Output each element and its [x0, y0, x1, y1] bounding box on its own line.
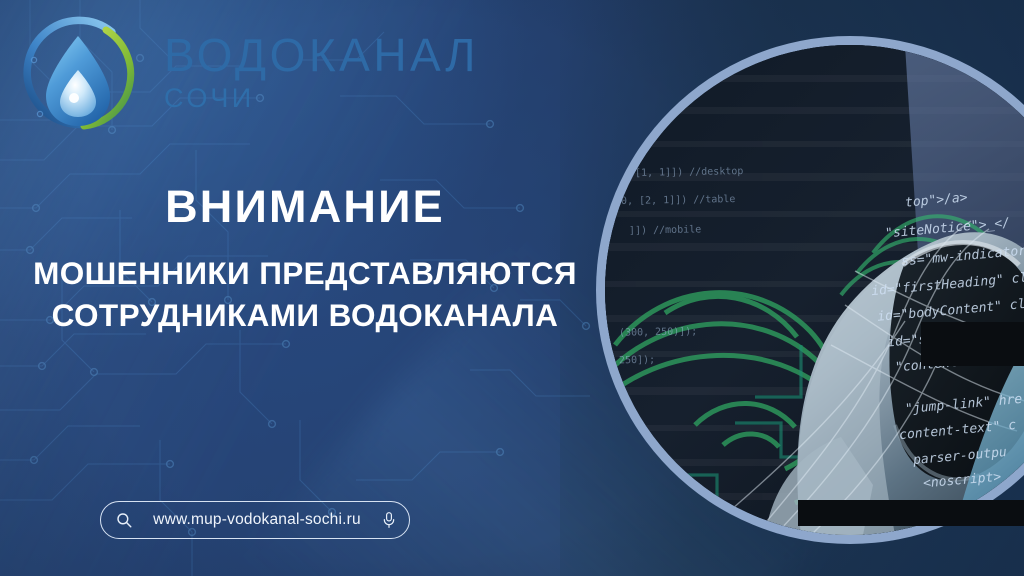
- brand-title: ВОДОКАНАЛ: [164, 30, 479, 80]
- code-line: <noscript>: [922, 470, 1001, 492]
- code-line: [1, 1]]) //desktop: [635, 166, 744, 179]
- code-line: top">/a>: [904, 190, 968, 210]
- code-line: (300, 250)]);: [619, 326, 697, 338]
- website-url: www.mup-vodokanal-sochi.ru: [133, 511, 381, 529]
- poster-canvas: [1, 1]]) //desktop 0, [2, 1]]) //table ]…: [0, 0, 1024, 576]
- redaction-box-upper: [921, 322, 1024, 366]
- warning-message: ВНИМАНИЕ МОШЕННИКИ ПРЕДСТАВЛЯЮТСЯ СОТРУД…: [0, 182, 610, 336]
- hacker-photo-circle: [1, 1]]) //desktop 0, [2, 1]]) //table ]…: [605, 45, 1024, 535]
- website-search-bar[interactable]: www.mup-vodokanal-sochi.ru: [100, 501, 410, 539]
- attention-heading: ВНИМАНИЕ: [0, 182, 610, 232]
- code-line: id="firstHeading" cla: [871, 270, 1024, 299]
- brand-logo: ВОДОКАНАЛ СОЧИ: [14, 12, 444, 140]
- magnifier-icon[interactable]: [115, 511, 133, 529]
- code-overlay: [1, 1]]) //desktop 0, [2, 1]]) //table ]…: [605, 45, 1024, 535]
- code-line: 250]);: [619, 355, 655, 367]
- code-line: content-text" c: [899, 418, 1017, 443]
- code-line: "siteNotice">_</: [885, 216, 1011, 242]
- water-droplet-icon: [14, 14, 142, 142]
- code-line: parser-outpu: [913, 445, 1008, 468]
- redaction-box-lower: [798, 500, 1024, 526]
- code-line: 0, [2, 1]]) //table: [621, 194, 736, 207]
- code-line: "jump-link" hre: [905, 392, 1023, 417]
- code-line: id="bodyContent" cla: [877, 296, 1024, 325]
- brand-subtitle: СОЧИ: [164, 83, 479, 113]
- microphone-icon[interactable]: [381, 511, 397, 529]
- message-line-2: СОТРУДНИКАМИ ВОДОКАНАЛА: [0, 294, 610, 336]
- code-line: ss="mw-indicator: [901, 244, 1024, 270]
- message-line-1: МОШЕННИКИ ПРЕДСТАВЛЯЮТСЯ: [0, 252, 610, 294]
- code-line: ]]) //mobile: [629, 224, 701, 236]
